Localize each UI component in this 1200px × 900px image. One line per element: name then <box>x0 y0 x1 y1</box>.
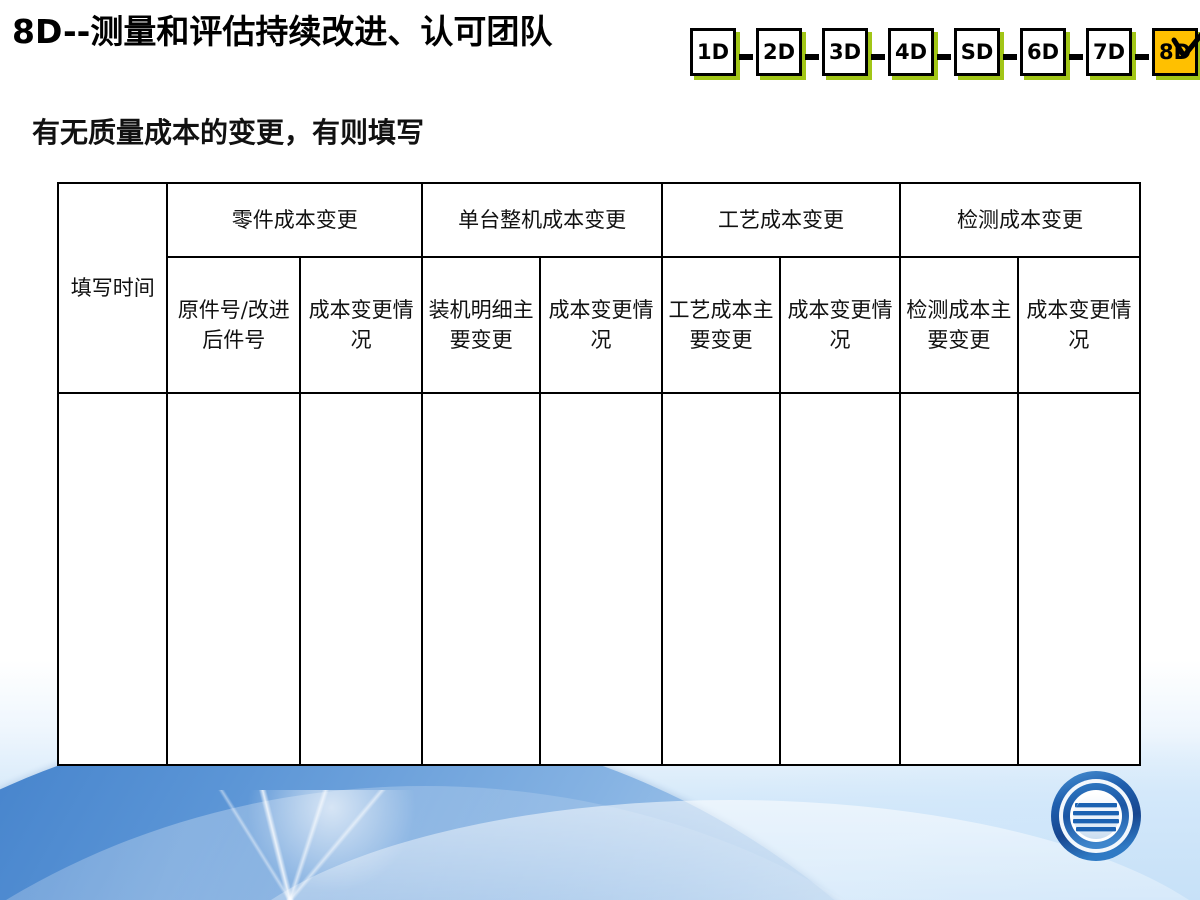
step-sd-wrapper: SD <box>954 28 1000 76</box>
step-label: 4D <box>895 42 927 63</box>
cost-change-table-wrapper: 填写时间零件成本变更单台整机成本变更工艺成本变更检测成本变更原件号/改进后件号成… <box>57 182 1141 766</box>
table-cell[interactable] <box>300 393 422 765</box>
step-1d-box[interactable]: 1D <box>690 28 736 76</box>
header-group-4: 检测成本变更 <box>900 183 1140 257</box>
step-6d-box[interactable]: 6D <box>1020 28 1066 76</box>
step-6d-wrapper: 6D <box>1020 28 1066 76</box>
table-cell[interactable] <box>540 393 662 765</box>
header-group-2: 单台整机成本变更 <box>422 183 662 257</box>
header-sub-2-2: 成本变更情况 <box>540 257 662 393</box>
background-swoosh-highlight <box>0 786 1150 900</box>
header-sub-3-2: 成本变更情况 <box>780 257 900 393</box>
header-group-1: 零件成本变更 <box>167 183 422 257</box>
table-cell[interactable] <box>58 393 167 765</box>
step-indicator-bar: 1D2D3D4DSD6D7D8D <box>690 28 1198 84</box>
step-label: 3D <box>829 42 861 63</box>
step-label: 7D <box>1093 42 1125 63</box>
step-8d-box[interactable]: 8D <box>1152 28 1198 76</box>
step-label: SD <box>961 42 994 63</box>
step-7d-wrapper: 7D <box>1086 28 1132 76</box>
step-label: 2D <box>763 42 795 63</box>
step-3d-wrapper: 3D <box>822 28 868 76</box>
header-fill-time: 填写时间 <box>58 183 167 393</box>
step-2d-box[interactable]: 2D <box>756 28 802 76</box>
step-connector <box>1003 54 1017 60</box>
table-header-row-groups: 填写时间零件成本变更单台整机成本变更工艺成本变更检测成本变更 <box>58 183 1140 257</box>
table-header-row-subs: 原件号/改进后件号成本变更情况装机明细主要变更成本变更情况工艺成本主要变更成本变… <box>58 257 1140 393</box>
slide-subtitle: 有无质量成本的变更，有则填写 <box>32 114 424 152</box>
cost-change-table: 填写时间零件成本变更单台整机成本变更工艺成本变更检测成本变更原件号/改进后件号成… <box>57 182 1141 766</box>
table-cell[interactable] <box>780 393 900 765</box>
slide-title: 8D--测量和评估持续改进、认可团队 <box>12 10 682 54</box>
step-connector <box>1069 54 1083 60</box>
table-cell[interactable] <box>1018 393 1140 765</box>
background-starburst-rays <box>30 790 550 900</box>
step-3d-box[interactable]: 3D <box>822 28 868 76</box>
table-cell[interactable] <box>900 393 1018 765</box>
company-logo <box>1048 768 1144 864</box>
step-connector <box>739 54 753 60</box>
header-sub-4-2: 成本变更情况 <box>1018 257 1140 393</box>
step-label: 8D <box>1159 42 1191 63</box>
step-4d-wrapper: 4D <box>888 28 934 76</box>
header-sub-2-1: 装机明细主要变更 <box>422 257 540 393</box>
table-row <box>58 393 1140 765</box>
header-sub-4-1: 检测成本主要变更 <box>900 257 1018 393</box>
table-cell[interactable] <box>662 393 780 765</box>
step-label: 1D <box>697 42 729 63</box>
header-sub-1-1: 原件号/改进后件号 <box>167 257 300 393</box>
step-8d-wrapper: 8D <box>1152 28 1198 76</box>
step-7d-box[interactable]: 7D <box>1086 28 1132 76</box>
step-2d-wrapper: 2D <box>756 28 802 76</box>
step-sd-box[interactable]: SD <box>954 28 1000 76</box>
header-group-3: 工艺成本变更 <box>662 183 900 257</box>
step-1d-wrapper: 1D <box>690 28 736 76</box>
table-cell[interactable] <box>167 393 300 765</box>
step-4d-box[interactable]: 4D <box>888 28 934 76</box>
step-connector <box>805 54 819 60</box>
step-connector <box>1135 54 1149 60</box>
step-connector <box>937 54 951 60</box>
table-cell[interactable] <box>422 393 540 765</box>
header-sub-3-1: 工艺成本主要变更 <box>662 257 780 393</box>
step-label: 6D <box>1027 42 1059 63</box>
step-connector <box>871 54 885 60</box>
header-sub-1-2: 成本变更情况 <box>300 257 422 393</box>
slide-canvas: 8D--测量和评估持续改进、认可团队 有无质量成本的变更，有则填写 1D2D3D… <box>0 0 1200 900</box>
